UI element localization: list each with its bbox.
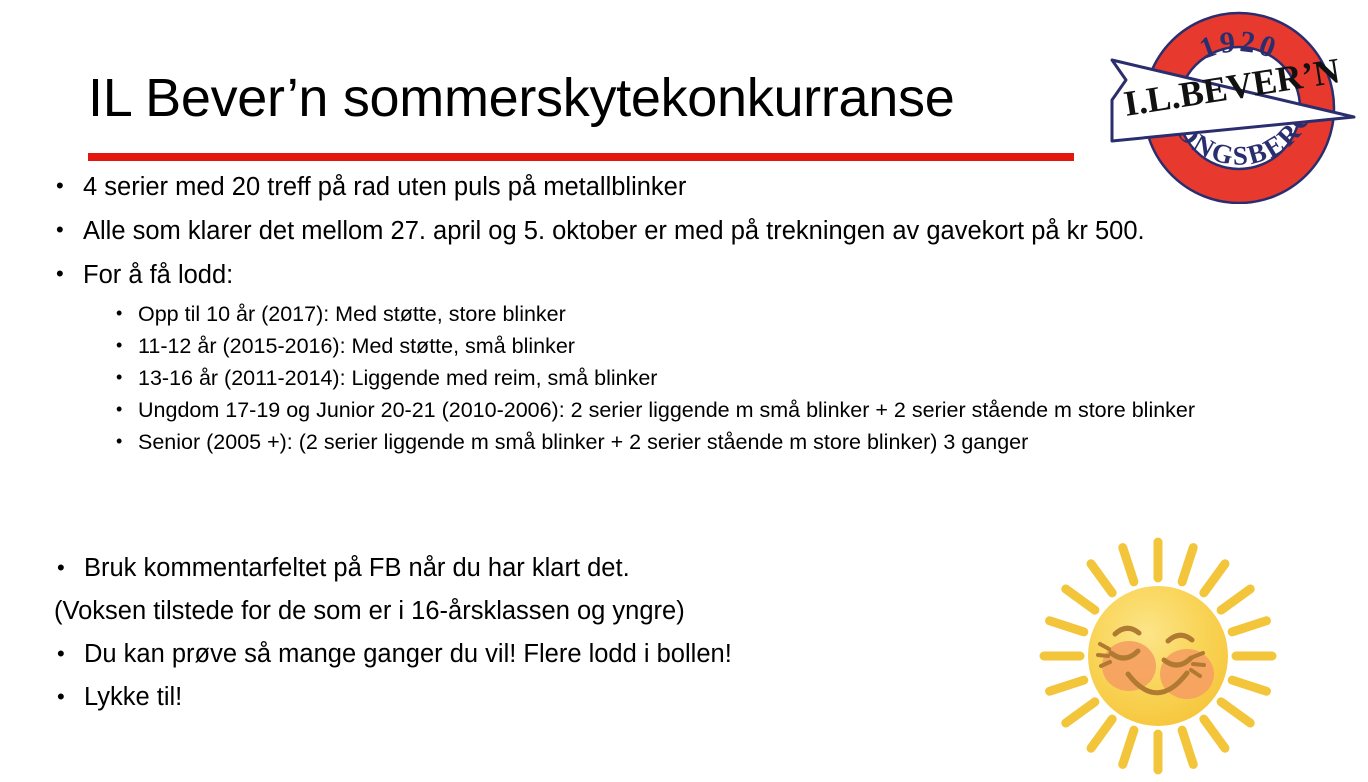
presentation-slide: IL Bever’n sommerskytekonkurranse 1920 K… [0, 0, 1368, 782]
sub-bullet-item: Ungdom 17-19 og Junior 20-21 (2010-2006)… [114, 398, 1312, 424]
sub-bullet-list: Opp til 10 år (2017): Med støtte, store … [114, 302, 1312, 456]
bullet-item: Lykke til! [52, 682, 1012, 713]
bullet-item: Alle som klarer det mellom 27. april og … [52, 216, 1312, 246]
bullet-item: Bruk kommentarfeltet på FB når du har kl… [52, 553, 1012, 584]
parenthetical-note: (Voksen tilstede for de som er i 16-årsk… [52, 596, 1012, 627]
sun-icon [1035, 533, 1281, 779]
bullet-item: For å få lodd: [52, 260, 1312, 290]
sub-bullet-item: 13-16 år (2011-2014): Liggende med reim,… [114, 366, 1312, 392]
sub-bullet-item: Senior (2005 +): (2 serier liggende m sm… [114, 430, 1312, 456]
title-underline-rule [88, 153, 1074, 161]
main-bullet-list: 4 serier med 20 treff på rad uten puls p… [52, 172, 1312, 462]
sub-bullet-item: 11-12 år (2015-2016): Med støtte, små bl… [114, 334, 1312, 360]
bullet-item: 4 serier med 20 treff på rad uten puls p… [52, 172, 1312, 202]
page-title: IL Bever’n sommerskytekonkurranse [88, 66, 1078, 130]
bullet-item: Du kan prøve så mange ganger du vil! Fle… [52, 639, 1012, 670]
closing-bullet-list: Bruk kommentarfeltet på FB når du har kl… [52, 553, 1012, 725]
sub-bullet-item: Opp til 10 år (2017): Med støtte, store … [114, 302, 1312, 328]
